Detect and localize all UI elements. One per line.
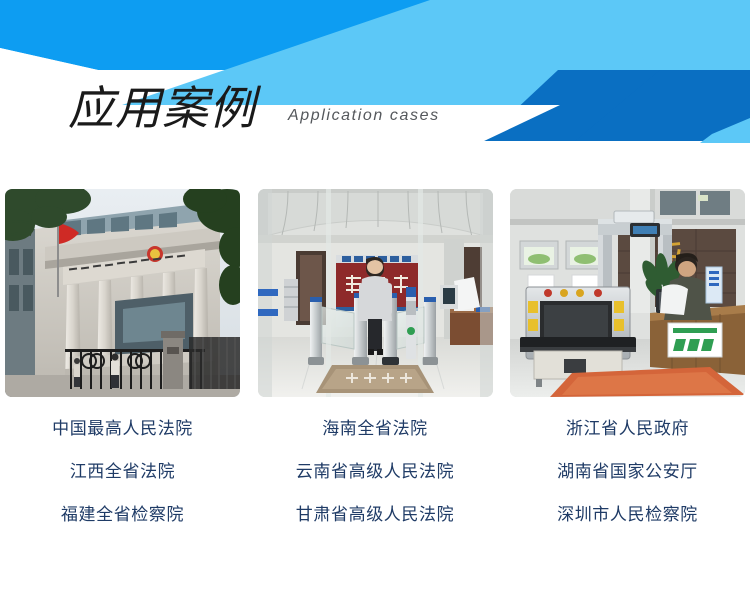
page-title-block: 应用案例 Application cases bbox=[68, 82, 440, 134]
case-label: 福建全省检察院 bbox=[61, 505, 184, 525]
courthouse-exterior-illustration bbox=[5, 189, 240, 397]
xray-scanner-checkpoint-photo[interactable] bbox=[510, 189, 745, 397]
case-label: 甘肃省高级人民法院 bbox=[296, 505, 454, 525]
xray-scanner-checkpoint-illustration bbox=[510, 189, 745, 397]
case-label: 海南全省法院 bbox=[322, 419, 428, 439]
case-column-1: 中国最高人民法院 江西全省法院 福建全省检察院 bbox=[5, 189, 240, 525]
case-column-2: 海南全省法院 云南省高级人民法院 甘肃省高级人民法院 bbox=[258, 189, 493, 525]
case-labels-1: 中国最高人民法院 江西全省法院 福建全省检察院 bbox=[5, 419, 240, 525]
banner-shape-white-strip bbox=[0, 141, 750, 175]
application-cases-page: 应用案例 Application cases bbox=[0, 0, 750, 601]
case-label: 深圳市人民检察院 bbox=[557, 505, 698, 525]
courthouse-exterior-photo[interactable] bbox=[5, 189, 240, 397]
case-label: 中国最高人民法院 bbox=[52, 419, 193, 439]
case-column-3: 浙江省人民政府 湖南省国家公安厅 深圳市人民检察院 bbox=[510, 189, 745, 525]
case-labels-3: 浙江省人民政府 湖南省国家公安厅 深圳市人民检察院 bbox=[510, 419, 745, 525]
page-subtitle: Application cases bbox=[288, 105, 440, 134]
case-label: 浙江省人民政府 bbox=[566, 419, 689, 439]
page-title: 应用案例 bbox=[68, 82, 256, 134]
header-banner: 应用案例 Application cases bbox=[0, 0, 750, 175]
lobby-speedgate-photo[interactable] bbox=[258, 189, 493, 397]
case-label: 云南省高级人民法院 bbox=[296, 462, 454, 482]
case-labels-2: 海南全省法院 云南省高级人民法院 甘肃省高级人民法院 bbox=[258, 419, 493, 525]
lobby-speedgate-illustration bbox=[258, 189, 493, 397]
case-label: 湖南省国家公安厅 bbox=[557, 462, 698, 482]
case-grid: 中国最高人民法院 江西全省法院 福建全省检察院 bbox=[0, 189, 750, 525]
case-label: 江西全省法院 bbox=[70, 462, 176, 482]
